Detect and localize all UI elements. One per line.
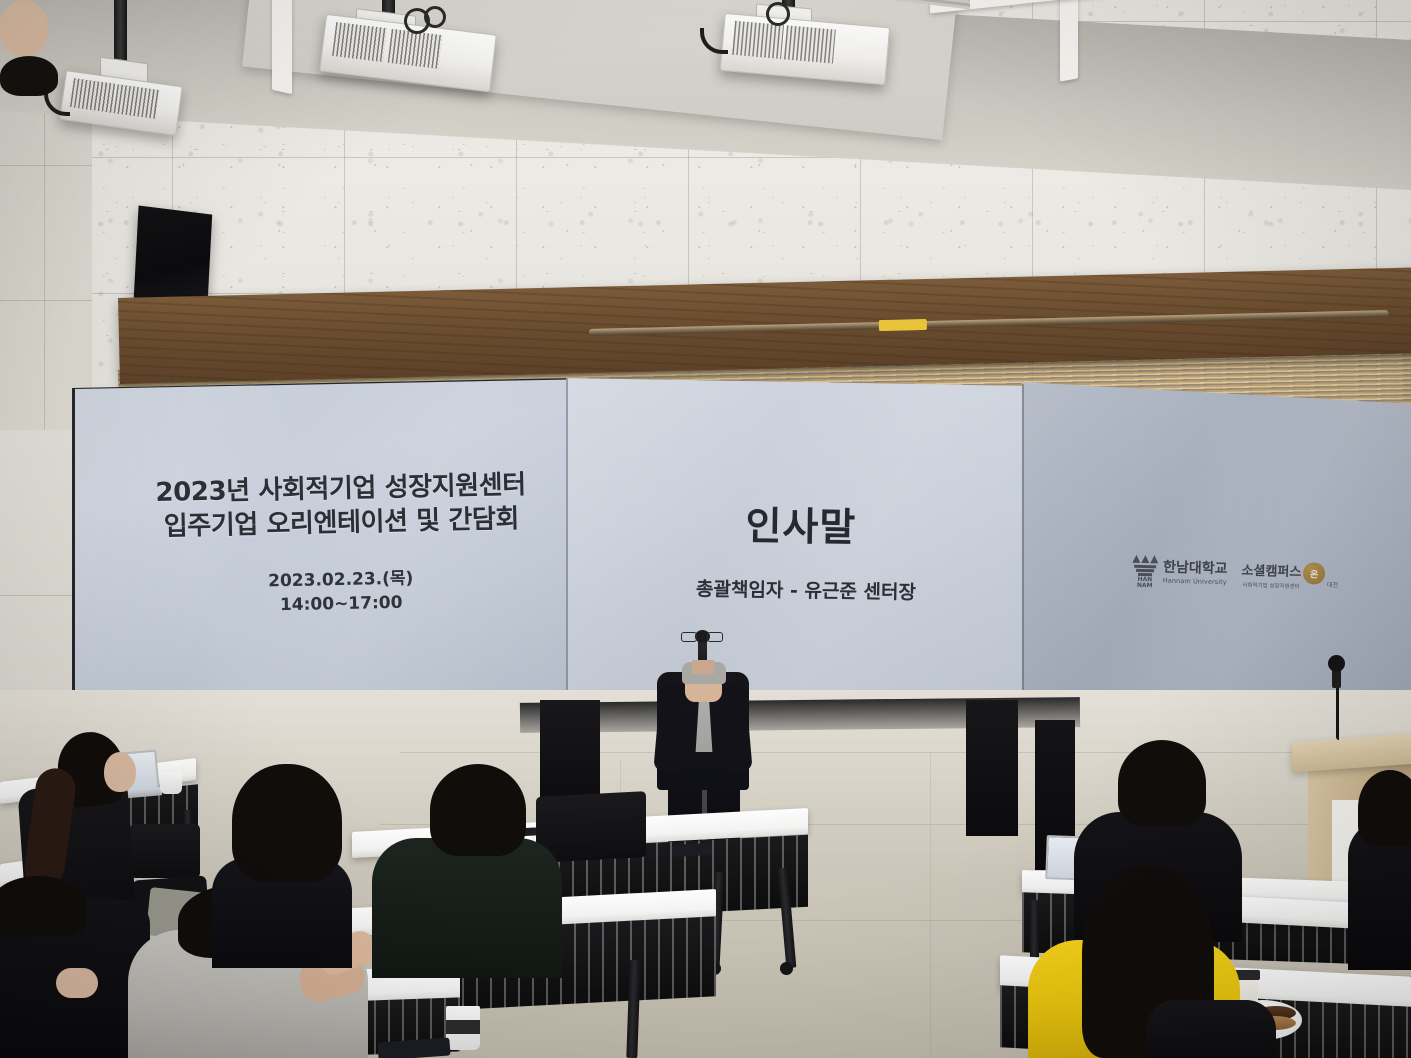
gooseneck-microphone-icon [1328,655,1345,672]
table-caster [780,962,793,975]
hannam-bars-icon [1132,564,1158,576]
attendee-hair [1358,770,1411,846]
attendee-hand [56,968,98,998]
slide-center-heading: 인사말 [636,493,967,554]
attendee-bag [1146,1000,1276,1058]
attendee-hair [0,876,86,936]
paper-cup [160,772,182,794]
hannam-name-ko: 한남대학교 [1163,561,1228,577]
hannam-abbr-line2: NAM [1132,583,1158,590]
attendee-hair [232,764,342,882]
attendee-hair [1118,740,1206,826]
social-campus-tagline: 사회적기업 성장지원센터 [1241,581,1301,591]
smartphone [672,843,713,857]
attendee-face [104,752,136,792]
hannam-university-logo: HAN NAM 한남대학교 Hannam University [1132,554,1228,591]
screen-seam [1022,384,1024,708]
hannam-name-en: Hannam University [1163,577,1228,587]
slide-right-logos: HAN NAM 한남대학교 Hannam University 소셜캠퍼스 사회… [1131,533,1383,618]
screen-seam [566,378,568,704]
on-badge-icon: 온 [1303,562,1326,585]
social-campus-name-ko: 소셜캠퍼스 [1241,565,1301,580]
slide-left-datetime: 2023.02.23.(목) 14:00~17:00 [196,565,487,619]
attendee-torso [372,838,562,978]
cup-sleeve [446,1020,480,1034]
slide-center-subtitle: 총괄책임자 - 유근준 센터장 [626,573,986,606]
hannam-mark-icon: HAN NAM [1132,554,1159,589]
presenter-neck [692,660,714,674]
mountain-triangles-icon [1132,554,1158,563]
floor-speaker [966,700,1018,836]
social-campus-on-logo: 소셜캠퍼스 사회적기업 성장지원센터 온 대전 [1241,561,1339,592]
social-campus-region: 대전 [1327,580,1338,589]
presenter [0,0,58,96]
presenter-head [0,0,48,56]
chair-back [130,824,200,878]
table-leg [1030,900,1039,962]
slide-left-title: 2023년 사회적기업 성장지원센터 입주기업 오리엔테이션 및 간담회 [125,467,556,545]
chair-back [536,791,646,863]
floor-grout-line [930,752,931,1058]
presenter-hair [0,56,58,96]
attendee-hair [430,764,526,856]
presenter-glasses-icon [681,632,723,642]
seminar-room-photo: 2023년 사회적기업 성장지원센터 입주기업 오리엔테이션 및 간담회 202… [0,0,1411,1058]
